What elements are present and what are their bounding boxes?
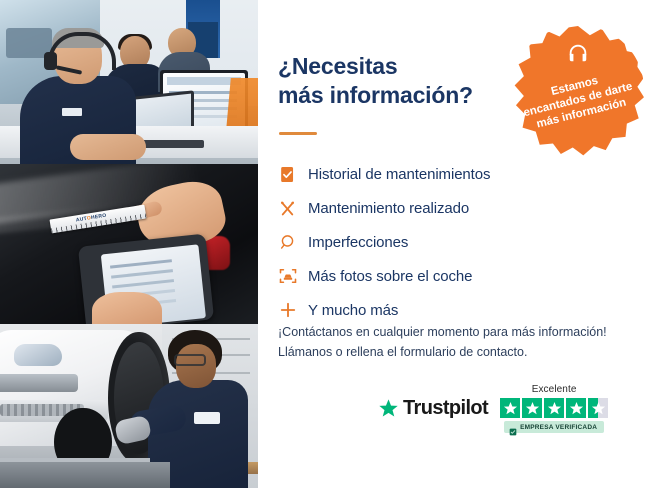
contact-line-2: Llámanos o rellena el formulario de cont… [278,345,527,359]
tools-icon [278,195,308,221]
heading-line-2: más información? [278,82,473,108]
feature-label: Más fotos sobre el coche [308,268,472,285]
verified-check-icon [509,423,517,431]
verified-label: EMPRESA VERIFICADA [520,424,597,431]
magnifier-icon [278,229,308,255]
feature-label: Historial de mantenimientos [308,166,490,183]
inspector-hand-holding-tablet [92,292,162,324]
headset-icon [567,42,589,64]
feature-item-fotos: Más fotos sobre el coche [278,259,638,293]
star-1 [500,398,520,418]
feature-label: Mantenimiento realizado [308,200,469,217]
feature-item-mantenimiento: Mantenimiento realizado [278,191,638,225]
content-panel: ¿Necesitas más información? Estamos enca… [258,0,650,488]
feature-label: Imperfecciones [308,234,408,251]
call-center-agent-photo [0,0,258,164]
info-banner: AUTOHERO [0,0,650,488]
star-5-half [588,398,608,418]
contact-paragraph: ¡Contáctanos en cualquier momento para m… [278,322,648,363]
feature-item-historial: Historial de mantenimientos [278,157,638,191]
document-check-icon [278,161,308,187]
heading-underline [279,132,317,135]
heading-line-1: ¿Necesitas [278,53,397,79]
support-seal-badge: Estamos encantados de darte más informac… [512,26,644,158]
agent-headset [48,32,116,70]
page-title: ¿Necesitas más información? [278,52,508,111]
car-inspection-photo: AUTOHERO [0,164,258,324]
car-photo-scan-icon [278,263,308,289]
star-4 [566,398,586,418]
star-3 [544,398,564,418]
contact-line-1: ¡Contáctanos en cualquier momento para m… [278,325,607,339]
trustpilot-wordmark: Trustpilot [403,397,488,420]
rating-stars [500,398,608,418]
feature-list: Historial de mantenimientos Mantenimient… [278,157,638,327]
main-agent [18,30,136,164]
trustpilot-rating-block: Excelente EMPRESA VERIFICADA [500,384,608,433]
star-2 [522,398,542,418]
feature-label: Y mucho más [308,302,398,319]
photo-column: AUTOHERO [0,0,258,488]
workshop-wheel-photo [0,324,258,488]
mechanic-uniform-logo [194,412,220,424]
trustpilot-logo: Trustpilot [378,397,488,420]
lift-platform [0,462,170,488]
plus-icon [278,297,308,323]
trustpilot-widget[interactable]: Trustpilot Excelente EMPRESA VERIFICADA [378,384,650,433]
trustpilot-star-icon [378,398,399,419]
feature-item-imperfecciones: Imperfecciones [278,225,638,259]
rating-label: Excelente [532,384,577,395]
verified-company-badge: EMPRESA VERIFICADA [504,421,604,433]
safety-glasses [174,354,206,366]
